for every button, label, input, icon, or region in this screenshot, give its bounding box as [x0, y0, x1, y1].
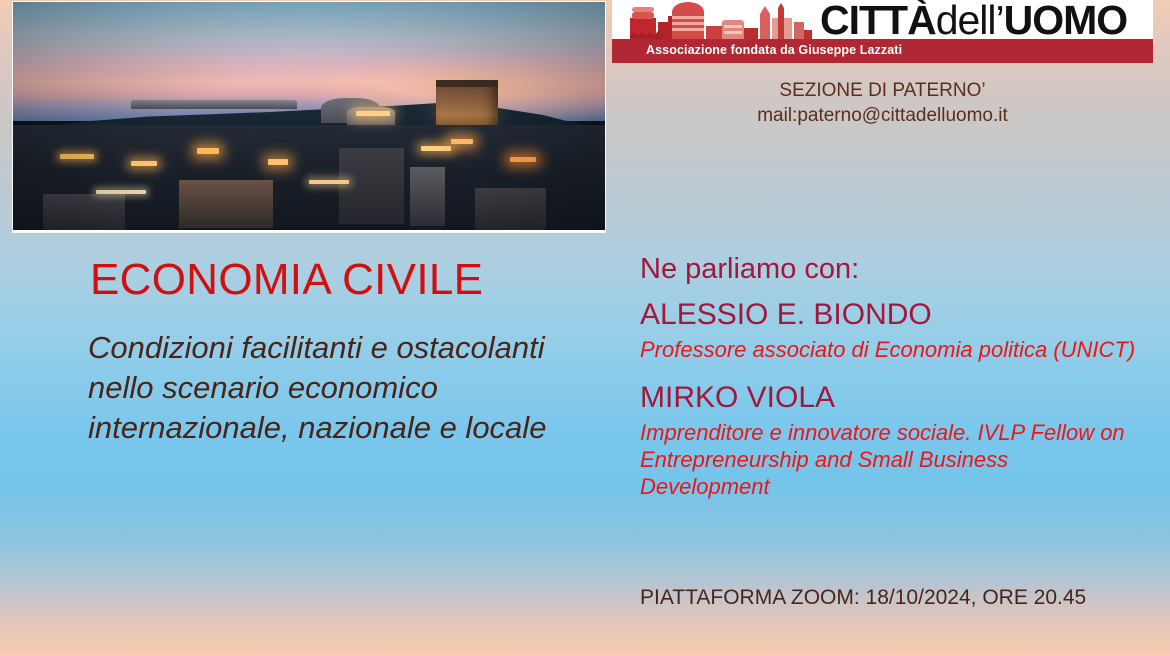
logo-word-dell: dell’	[936, 0, 1004, 44]
speaker-entry: ALESSIO E. BIONDO Professore associato d…	[640, 296, 1140, 363]
logo-tagline: Associazione fondata da Giuseppe Lazzati	[646, 43, 902, 57]
page-subtitle: Condizioni facilitanti e ostacolanti nel…	[88, 328, 558, 448]
photo-vignette	[13, 2, 605, 230]
speaker-name: MIRKO VIOLA	[640, 379, 1140, 417]
spacer	[640, 363, 1140, 379]
event-poster: CITTÀ dell’UOMO Associazione fondata da …	[0, 0, 1170, 656]
citta-delluomo-logo: CITTÀ dell’UOMO Associazione fondata da …	[612, 0, 1153, 63]
speakers-lead-in: Ne parliamo con:	[640, 250, 1140, 288]
speaker-name: ALESSIO E. BIONDO	[640, 296, 1140, 334]
photo-frame	[13, 2, 605, 232]
event-details: PIATTAFORMA ZOOM: 18/10/2024, ORE 20.45	[640, 586, 1086, 610]
speaker-role: Imprenditore e innovatore sociale. IVLP …	[640, 419, 1140, 500]
speakers-section: Ne parliamo con: ALESSIO E. BIONDO Profe…	[640, 250, 1140, 500]
logo-word-citta: CITTÀ	[820, 0, 936, 44]
page-title: ECONOMIA CIVILE	[90, 255, 483, 305]
section-email[interactable]: mail:paterno@cittadelluomo.it	[612, 103, 1153, 128]
logo-tagline-bar: Associazione fondata da Giuseppe Lazzati	[612, 39, 1153, 63]
logo-wordmark: CITTÀ dell’UOMO	[820, 0, 1127, 42]
paterno-night-cityscape-photo	[13, 2, 605, 230]
section-contact-info: SEZIONE DI PATERNO’ mail:paterno@cittade…	[612, 78, 1153, 128]
speaker-entry: MIRKO VIOLA Imprenditore e innovatore so…	[640, 379, 1140, 500]
city-skyline-icon	[628, 2, 814, 44]
logo-word-uomo: UOMO	[1004, 0, 1128, 44]
section-name: SEZIONE DI PATERNO’	[612, 78, 1153, 103]
speaker-role: Professore associato di Economia politic…	[640, 336, 1140, 363]
